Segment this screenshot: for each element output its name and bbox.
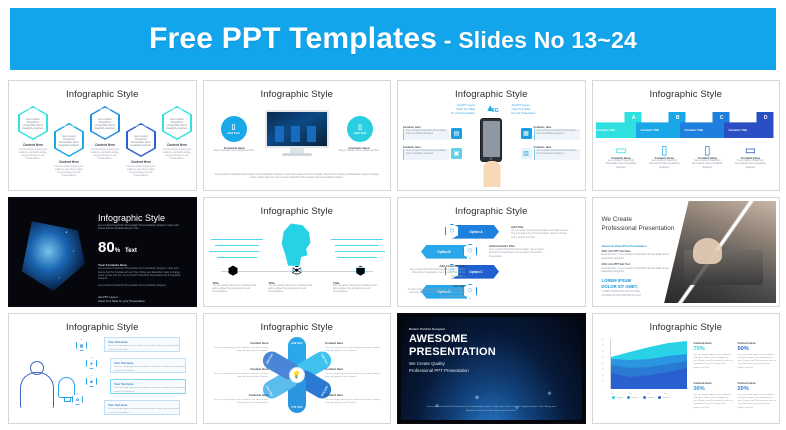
stat-1-value: 70% [694,346,734,352]
smartphone-graphic [480,118,502,162]
text-box-4-title: Your Text Here [108,403,179,407]
slide-5-block-desc2: Get a modern PowerPoint Presentation tha… [98,285,187,288]
hex-step-5[interactable]: Add Text Get a modern PowerPoint Present… [162,106,192,162]
hex-body-1: Get a modern PowerPoint Presentation tha… [18,119,48,132]
stat-1-desc: You can simply impress your audience and… [694,354,734,370]
slide-11-sub-1: We Create Quality [409,361,519,368]
chevron-letter-b: B [676,115,680,121]
slide-5-subtitle: Get a modern PowerPoint Presentation tha… [98,225,187,232]
particle-graphic [16,217,88,293]
device-2-desc: Get a modern PowerPoint Presentation tha… [645,160,683,170]
slide-11-kicker: Modern Portfolio Designed [409,327,519,331]
banner-main: Free PPT Templates [149,22,437,55]
chart-legend: Contents Contents Contents Contents [612,396,670,399]
slide-5-block-title: Your Contents Here [98,263,187,267]
caption-right: Contents Here Easy to change colors, pho… [333,146,385,153]
slide-5-block-desc: Get a modern PowerPoint Presentation tha… [98,268,187,281]
petal-caption-1-title: Content Here [211,341,269,345]
caption-left: Contents Here Easy to change colors, pho… [209,146,261,153]
slide-8-item-2-desc: Example Text : Get a modern PowerPoint P… [602,267,678,275]
text-box-2-desc: You can simply impress your audience and… [114,366,185,372]
slide-11-footer: Get a modern PowerPoint Presentation tha… [425,406,558,413]
stat-1-title: Content Here [694,341,734,345]
option-d-text: Add Title You can simply impress your au… [403,284,465,299]
chevron-step-c[interactable]: C Contents Title [680,112,730,138]
slide-9-title: Infographic Style [12,322,193,333]
legend-item-2: Contents [627,396,639,399]
info-card-4-desc: Get a modern PowerPoint Presentation tha… [535,149,580,158]
hex-step-1[interactable]: Add Text Get a modern PowerPoint Present… [18,106,48,162]
stat-3: Content Here 30% You can simply impress … [694,381,734,409]
petal-caption-5-title: Content Here [325,367,383,371]
stat-2-title: Content Here [738,341,777,345]
tablet-icon: ▯ [645,144,683,156]
slide-8-headline-1: We Create [602,215,680,224]
phone-glyph-2-icon: ▯ [358,124,362,131]
slide-5-title: Infographic Style [98,213,187,223]
slide-6-title: Infographic Style [207,206,388,217]
slide-8-item-1-desc: Example Text : Get a modern PowerPoint P… [602,253,678,261]
percent-block: 80 % Text [98,240,187,255]
banner-title: Free PPT Templates - Slides No 13~24 [149,22,637,56]
hexagon-node-icon-3: ▣ [356,266,365,276]
option-row-b[interactable]: Option B ⬡ [421,245,481,259]
petal-caption-1-desc: You can simply impress your audience and… [214,347,269,352]
slide-12-title: Infographic Style [596,322,777,333]
option-c-text: Add Contents Title Get a modern PowerPoi… [403,264,465,279]
chevron-label-b: Contents Title [641,128,660,132]
info-card-2-desc: Get a modern PowerPoint Presentation tha… [404,149,449,158]
node-2[interactable]: ✉ [292,266,301,276]
option-b-text-desc: Get a modern PowerPoint Presentation. Ge… [489,249,544,258]
petal-caption-5: Content HereYou can simply impress your … [325,367,383,379]
petal-4-label: Add Text [291,405,302,408]
slide-8-headline: We Create Professional Presentation [602,215,680,234]
laptop-icon: ▭ [602,144,640,156]
hexagon-node-icon-1: ⬢ [229,266,238,276]
text-box-4-desc: You can simply impress your audience and… [108,408,179,414]
device-item-3[interactable]: ▯ Content Here Get a modern PowerPoint P… [688,144,726,170]
node-2-desc: You can simply impress your audience and… [269,285,317,295]
text-box-4[interactable]: Your Text Here You can simply impress yo… [104,400,180,415]
petal-caption-2-desc: You can simply impress your audience and… [214,373,269,378]
slide-thumb-3[interactable]: Infographic Style ▲ 5G ALLPPT Layout Cle… [397,80,586,191]
device-1-desc: Get a modern PowerPoint Presentation tha… [602,160,640,170]
slide-thumb-11[interactable]: Modern Portfolio Designed AWESOME PRESEN… [397,313,586,424]
node-3[interactable]: ▣ [356,266,365,276]
hex-step-4[interactable]: Add Text Get a modern PowerPoint Present… [126,123,156,179]
text-box-1[interactable]: Your Text Here You can simply impress yo… [104,337,180,352]
slide-7-title: Infographic Style [401,206,582,217]
hexagon-node-icon-2: ✉ [292,266,301,276]
slide-8-section-title: Awesome PowerPoint Presentation [602,245,678,248]
bubble-right[interactable]: ▯ Add Text [347,116,373,142]
hex-cap-5: Add Text [162,108,192,111]
slide-2-footer: Get a modern PowerPoint Presentation tha… [215,174,380,181]
option-c-text-desc: Get a modern PowerPoint Presentation. Ge… [410,269,465,278]
petal-caption-6-title: Content Here [325,393,383,397]
hex-body-3: Get a modern PowerPoint Presentation tha… [90,119,120,132]
option-a-text-desc: You can simply impress your audience and… [511,230,569,239]
node-3-desc: You can simply impress your audience and… [333,285,381,295]
petal-2-label: Add Text [320,353,328,364]
device-item-2[interactable]: ▯ Content Here Get a modern PowerPoint P… [645,144,683,170]
device-row: ▭ Content Here Get a modern PowerPoint P… [600,144,773,170]
petal-caption-5-desc: You can simply impress your audience and… [325,373,380,378]
bubble-left[interactable]: ▯ Add Text [221,116,247,142]
stat-4-value: 20% [738,386,777,392]
hexagon-row: Add Text Get a modern PowerPoint Present… [18,104,187,183]
stat-3-value: 30% [694,386,734,392]
slide-thumb-10[interactable]: Infographic Style Add Text Add Text Add … [203,313,392,424]
petal-caption-3-desc: You can simply impress your audience and… [214,399,269,404]
text-box-3-desc: You can simply impress your audience and… [114,387,185,393]
text-box-1-desc: You can simply impress your audience and… [108,345,179,351]
info-card-1[interactable]: Contents_Here Get a modern PowerPoint Pr… [403,126,449,140]
bubble-left-label: Add Text [227,131,240,135]
percent-unit: % [115,248,120,254]
device-3-desc: Get a modern PowerPoint Presentation tha… [688,160,726,170]
stat-1: Content Here 70% You can simply impress … [694,341,734,369]
hex-desc-4: You can simply impress your audience and… [126,166,156,179]
slide-2-title: Infographic Style [207,89,388,100]
petal-6-label: Add Text [265,353,273,364]
slide-thumb-2[interactable]: Infographic Style ▯ Add Text ▯ Add Text … [203,80,392,191]
heart-icon: ♥ [86,357,97,369]
petal-caption-2-title: Content Here [211,367,269,371]
device-4-desc: Get a modern PowerPoint Presentation tha… [731,160,769,170]
slide-thumb-5[interactable]: Infographic Style Get a modern PowerPoin… [8,197,197,308]
chevron-letter-a: A [632,115,636,121]
slide-8-blue-sub: LOREM IPSUM DOLOR SIT AMET CONSECTETUR A… [602,290,678,298]
info-card-2[interactable]: Contents_Here Get a modern PowerPoint Pr… [403,146,449,160]
hex-desc-5: You can simply impress your audience and… [162,149,192,162]
slide-8-items: Awesome PowerPoint Presentation 2020 | A… [602,245,678,275]
text-box-3[interactable]: Your Text Here You can simply impress yo… [110,379,186,394]
info-card-1-desc: Get a modern PowerPoint Presentation tha… [404,129,449,138]
hex-body-4: Get a modern PowerPoint Presentation tha… [126,136,156,149]
slide-5-content: Infographic Style Get a modern PowerPoin… [98,213,187,303]
hex-cap-2: Add Text [54,125,84,128]
hex-cap-3: Add Text [90,108,120,111]
option-d-text-desc: You can simply impress your audience and… [407,289,465,298]
slide-thumb-7[interactable]: Infographic Style Option A ⬡ Add Title Y… [397,197,586,308]
hex-step-3[interactable]: Add Text Get a modern PowerPoint Present… [90,106,120,162]
chevron-letter-c: C [720,115,724,121]
option-b-text: Add Contents Title Get a modern PowerPoi… [489,244,551,259]
hex-desc-3: You can simply impress your audience and… [90,149,120,162]
slide-thumb-6[interactable]: Infographic Style ⬢ ✉ ▣ [203,197,392,308]
stat-4-title: Content Here [738,381,777,385]
info-card-4[interactable]: Contents_Here Get a modern PowerPoint Pr… [534,146,580,160]
petal-1-label: Add Text [291,342,302,345]
slide-8-headline-2: Professional Presentation [602,224,680,233]
device-item-4[interactable]: ▭ Content Here Get a modern PowerPoint P… [731,144,769,170]
option-row-a[interactable]: Option A ⬡ [445,225,505,239]
slide-thumb-4[interactable]: Infographic Style A Contents Title B Con… [592,80,781,191]
slide-11-headline-1: AWESOME [409,333,519,346]
device-item-1[interactable]: ▭ Content Here Get a modern PowerPoint P… [602,144,640,170]
person-icon: ☻ [86,375,97,387]
petal-caption-2: Content HereYou can simply impress your … [211,367,269,379]
option-d-text-title: Add Title [403,284,465,288]
caption-right-desc: Easy to change colors, photos and Text. [333,150,385,153]
petal-caption-4-title: Content Here [325,341,383,345]
stat-2-desc: You can simply impress your audience and… [738,354,777,370]
slide-thumb-1[interactable]: Infographic Style Add Text Get a modern … [8,80,197,191]
chevron-step-d[interactable]: D Contents Title [724,112,774,138]
monitor-icon: ▭ [731,144,769,156]
petal-caption-6: Content HereYou can simply impress your … [325,393,383,405]
hand-graphic [484,161,501,187]
slide-3-title: Infographic Style [401,89,582,100]
stat-4: Content Here 20% You can simply impress … [738,381,777,409]
5g-badge: 5G [492,108,499,114]
slide-1-title: Infographic Style [12,89,193,100]
headline-right: ALLPPT Layout Clean Text Slide for your … [512,104,556,116]
option-b-text-title: Add Contents Title [489,244,551,248]
node-text-2: Title You can simply impress your audien… [269,281,317,295]
option-a-label: Option A [453,225,499,239]
hex-step-2[interactable]: Add Text Get a modern PowerPoint Present… [54,123,84,179]
percent-value: 80 [98,240,115,255]
text-box-2-title: Your Text Here [114,361,185,365]
hex-label-5: Content Here [162,143,192,147]
legend-item-1: Contents [612,396,624,399]
slide-thumb-9[interactable]: Infographic Style ▦ ♥ ☻ ✿ Your Text Here… [8,313,197,424]
area-chart: 80 70 60 50 40 30 20 10 0 Text [602,339,688,395]
ai-head-icon [279,223,315,267]
hex-label-4: Content Here [126,160,156,164]
header-banner: Free PPT Templates - Slides No 13~24 [10,8,776,70]
laptop-hands-photo [664,201,776,304]
camera-icon: ▦ [521,128,532,139]
info-card-3[interactable]: Contents_Here Get a modern PowerPoint Pr… [534,126,580,140]
text-box-1-title: Your Text Here [108,340,179,344]
legend-item-4: Contents [658,396,670,399]
node-1[interactable]: ⬢ [229,266,238,276]
phone-icon: ▯ [688,144,726,156]
petal-caption-1: Content HereYou can simply impress your … [211,341,269,353]
slide-thumb-8[interactable]: We Create Professional Presentation Awes… [592,197,781,308]
chevron-letter-d: D [764,115,768,121]
card-icon: ▤ [451,128,462,139]
banner-separator: - [437,27,458,53]
chevron-step-a[interactable]: A Contents Title [596,112,642,138]
text-box-3-title: Your Text Here [114,382,185,386]
text-box-2[interactable]: Your Text Here You can simply impress yo… [110,358,186,373]
slide-11-sub-2: Professional PPT Presentation [409,368,519,375]
bubble-right-label: Add Text [354,131,367,135]
legend-item-3: Contents [643,396,655,399]
chevron-label-d: Contents Title [729,128,748,132]
petal-caption-3: Contents HereYou can simply impress your… [211,393,269,405]
node-text-3: Title You can simply impress your audien… [333,281,381,295]
person-graphic [20,372,54,408]
option-c-text-title: Add Contents Title [403,264,465,268]
headline-left: ALLPPT Layout Clean Text Slide for your … [435,104,475,116]
hex-body-2: Get a modern PowerPoint Presentation tha… [54,136,84,149]
banner-sub: Slides No 13~24 [458,27,637,53]
slide-10-title: Infographic Style [207,322,388,333]
option-b-label: Option B [421,245,467,259]
hex-desc-2: You can simply impress your audience and… [54,166,84,179]
chevron-label-a: Contents Title [597,128,616,132]
info-card-3-desc: Get a modern PowerPoint Presentation tha… [535,129,580,138]
lock-icon: ▣ [451,148,462,159]
center-bulb-icon: 💡 [289,367,305,383]
hex-label-1: Content Here [18,143,48,147]
slide-4-title: Infographic Style [596,89,777,100]
phone-glyph-icon: ▯ [232,124,236,131]
chevron-step-b[interactable]: B Contents Title [636,112,686,138]
stat-3-desc: You can simply impress your audience and… [694,394,734,410]
copy-icon: ▥ [521,148,532,159]
slide-11-content: Modern Portfolio Designed AWESOME PRESEN… [409,327,519,374]
petal-caption-4-desc: You can simply impress your audience and… [325,347,380,352]
chevron-row: A Contents Title B Contents Title C Cont… [598,112,775,138]
hex-label-3: Content Here [90,143,120,147]
stat-4-desc: You can simply impress your audience and… [738,394,777,410]
slide-grid: Infographic Style Add Text Get a modern … [8,80,780,424]
hex-cap-4: Add Text [126,125,156,128]
option-a-text-title: Add Title [511,225,573,229]
petal-caption-6-desc: You can simply impress your audience and… [325,399,380,404]
caption-left-desc: Easy to change colors, photos and Text. [209,150,261,153]
hex-body-5: Get a modern PowerPoint Presentation tha… [162,119,192,132]
area-chart-svg [611,339,688,389]
bulb-icon [58,377,75,398]
slide-8-blue-block: LOREM IPSUM DOLOR SIT AMET, LOREM IPSUM … [602,278,678,297]
stat-2: Content Here 50% You can simply impress … [738,341,777,369]
petal-caption-3-title: Contents Here [211,393,269,397]
slide-thumb-12[interactable]: Infographic Style 80 70 60 50 40 30 20 1… [592,313,781,424]
slide-11-headline-2: PRESENTATION [409,346,519,359]
hex-cap-1: Add Text [18,108,48,111]
percent-label: Text [125,248,137,254]
building-icon: ▦ [76,339,87,351]
chevron-label-c: Contents Title [685,128,704,132]
monitor-graphic [265,110,329,156]
page-root: Free PPT Templates - Slides No 13~24 Inf… [0,0,786,430]
stat-3-title: Content Here [694,381,734,385]
node-1-desc: You can simply impress your audience and… [213,285,261,295]
hex-label-2: Content Here [54,160,84,164]
hex-desc-1: You can simply impress your audience and… [18,149,48,162]
stat-2-value: 50% [738,346,777,352]
node-text-1: Title You can simply impress your audien… [213,281,261,295]
petal-caption-4: Content HereYou can simply impress your … [325,341,383,353]
slide-5-footer-2: Clean Text Slide for your Presentation [98,299,187,303]
option-a-text: Add Title You can simply impress your au… [511,225,573,240]
